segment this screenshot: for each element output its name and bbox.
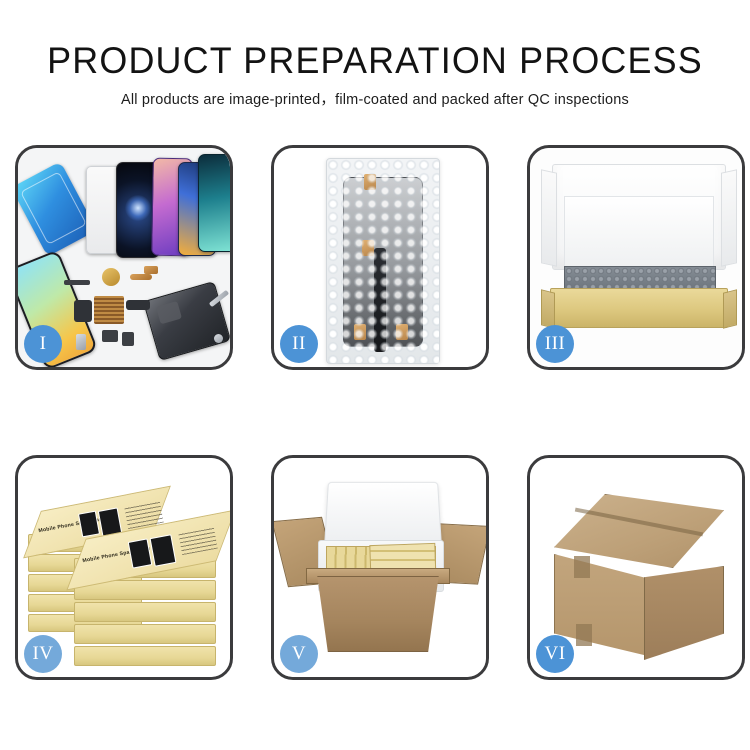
step-badge-3: III [536,325,574,363]
stacked-box-icon [74,646,216,666]
step-4-illustration: Mobile Phone Spare Parts Mobile Phone Sp… [18,458,230,677]
carton-tab-lower-icon [576,624,592,646]
process-step-panel-6: VI [527,455,745,680]
step-5-illustration: V [274,458,486,677]
header: PRODUCT PREPARATION PROCESS All products… [0,0,750,108]
process-step-panel-2: II [271,145,489,370]
camera-module-part-icon [102,330,118,342]
step-badge-4: IV [24,635,62,673]
page-subtitle: All products are image-printed，film-coat… [0,79,750,108]
speaker-mesh-part-icon [64,280,90,285]
carton-tab-upper-icon [574,556,590,578]
chip-grid-part-icon [94,296,124,324]
tape-strip-bottom-left-icon [354,324,366,340]
stacked-box-icon [74,624,216,644]
step-3-illustration: III [530,148,742,367]
yellow-box-stack-icon: Mobile Phone Spare Parts Mobile Phone Sp… [28,482,228,658]
step-badge-1: I [24,325,62,363]
process-step-panel-3: III [527,145,745,370]
copper-connector-part-icon [144,266,158,274]
tape-strip-mid-icon [362,240,374,256]
process-step-panel-5: V [271,455,489,680]
bubble-wrap-bag-icon [326,158,440,364]
copper-flex-part-icon [130,274,152,280]
carton-body-icon [312,576,444,652]
process-step-panel-4: Mobile Phone Spare Parts Mobile Phone Sp… [15,455,233,680]
ribbon-cable-part-icon [126,300,150,310]
stacked-box-icon [74,602,216,622]
step-2-illustration: II [274,148,486,367]
white-foam-sheet-icon [564,196,714,272]
flex-cable-part-icon [74,300,92,322]
step-badge-6: VI [536,635,574,673]
screw-part-icon [214,334,223,343]
process-step-panel-1: I [15,145,233,370]
step-badge-5: V [280,635,318,673]
step-6-illustration: VI [530,458,742,677]
step-badge-2: II [280,325,318,363]
wrapped-screen-part-icon [343,177,423,347]
tape-strip-top-icon [364,174,376,190]
step-1-illustration: I [18,148,230,367]
phone-teal-gradient-icon [198,154,230,252]
tape-strip-bottom-right-icon [396,324,408,340]
flex-cable-icon [374,248,386,352]
sim-tray-part-icon [76,334,86,350]
foam-lid-icon [324,482,442,549]
gold-coil-part-icon [102,268,120,286]
process-step-grid: I II III [15,145,745,680]
yellow-box-base-icon [550,288,728,328]
page-title: PRODUCT PREPARATION PROCESS [11,0,739,79]
vibrator-part-icon [122,332,134,346]
